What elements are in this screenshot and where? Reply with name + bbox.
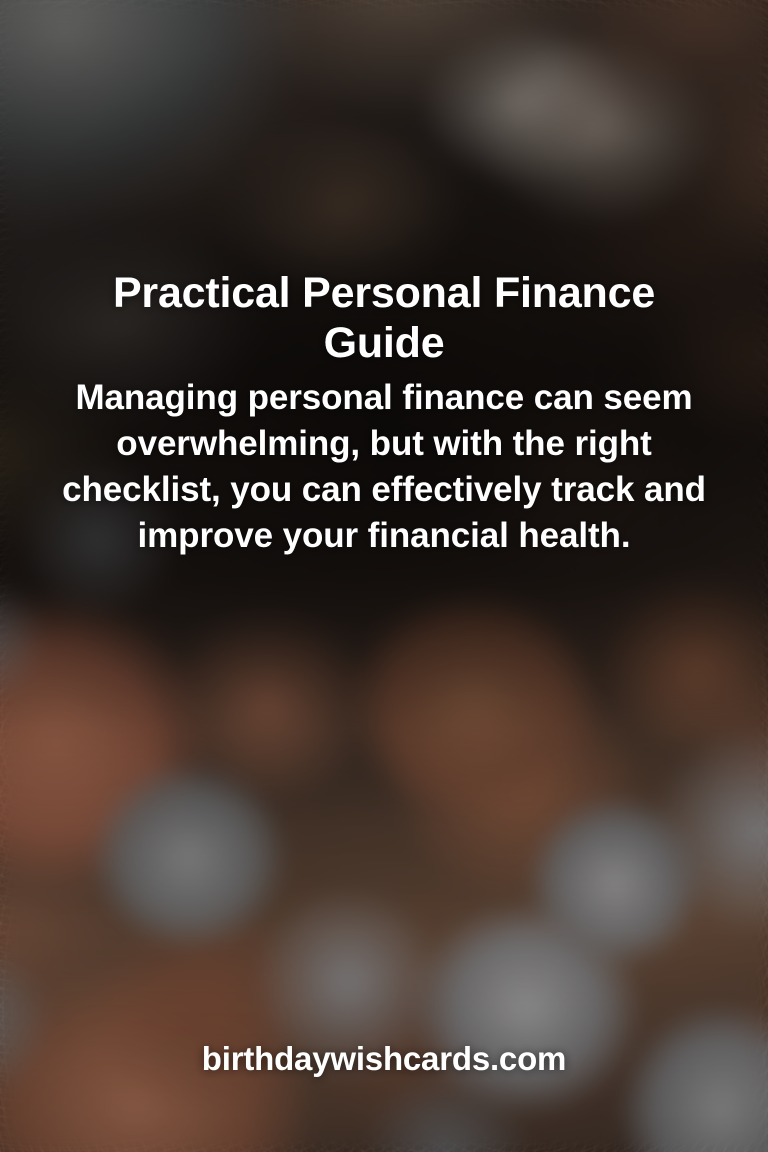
card-title: Practical Personal Finance Guide — [56, 268, 712, 369]
card-subtitle: Managing personal finance can seem overw… — [56, 375, 712, 560]
quote-card: Practical Personal Finance Guide Managin… — [0, 0, 768, 1152]
headline-block: Practical Personal Finance Guide Managin… — [0, 268, 768, 559]
footer-website-url: birthdaywishcards.com — [0, 1040, 768, 1078]
card-content: Practical Personal Finance Guide Managin… — [0, 0, 768, 1152]
